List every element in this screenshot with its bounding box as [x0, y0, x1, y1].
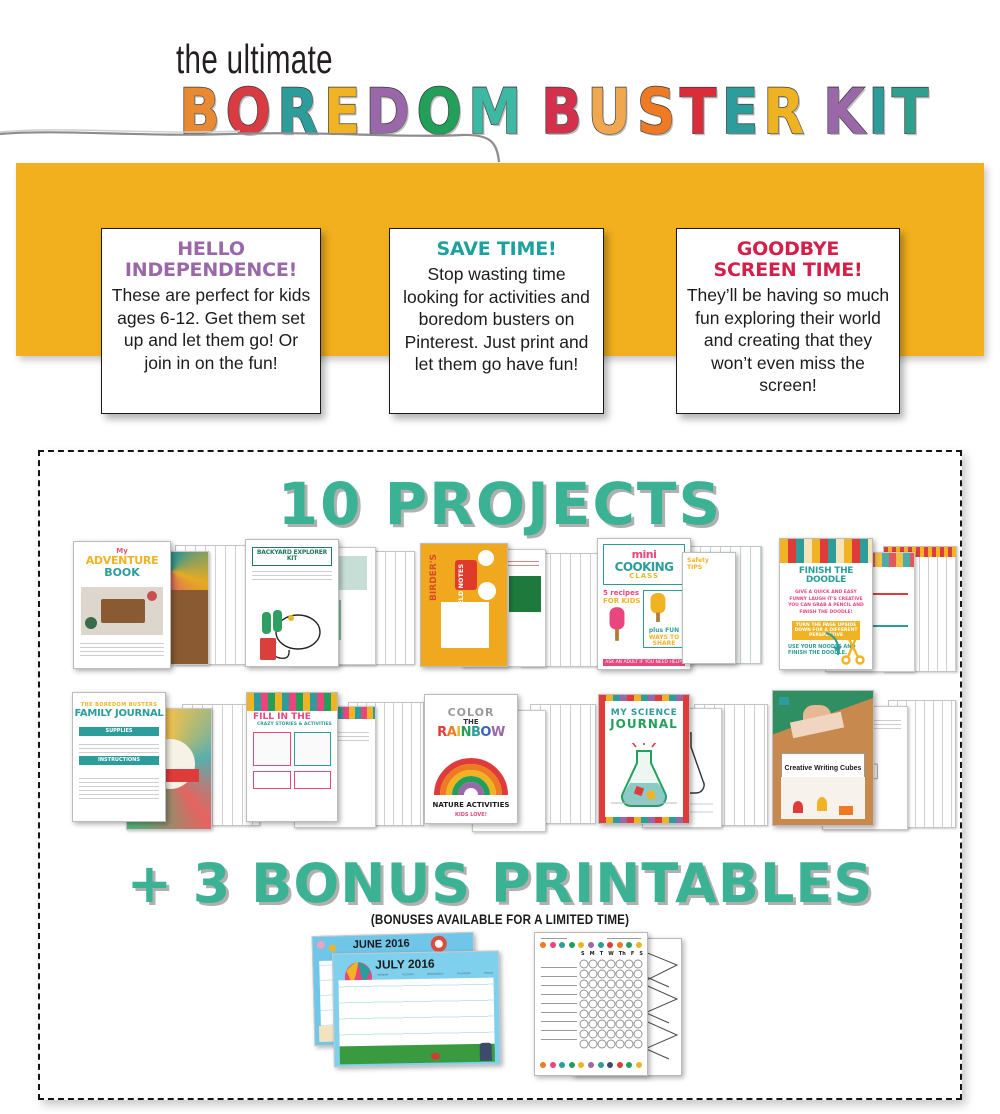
- product-thumb-adventure-book: My ADVENTURE My ADVENTURE BOOK: [60, 535, 250, 675]
- title-letter: E: [324, 82, 360, 142]
- bonus-heading: + 3 BONUS PRINTABLES: [0, 852, 1000, 915]
- title-letter: S: [637, 82, 675, 142]
- projects-heading: 10 PROJECTS: [0, 470, 1000, 538]
- product-thumb-creative-writing-cubes: Creative Writing Cubes: [760, 686, 960, 836]
- bonus-chore-chart-sheet: S M T W Th F S: [534, 932, 648, 1076]
- product-thumb-family-journal: THE BOREDOM BUSTERS FAMILY JOURNAL SUPPL…: [60, 688, 250, 833]
- title-letter: K: [823, 82, 863, 142]
- feature-card-independence: HELLO INDEPENDENCE! These are perfect fo…: [101, 228, 321, 414]
- title-letter: U: [588, 82, 630, 142]
- title-letter: B: [541, 82, 581, 142]
- title-letter: T: [680, 82, 716, 142]
- title-letter: O: [416, 82, 460, 142]
- calendar-title: JULY 2016: [375, 957, 435, 972]
- cover-title: BIRDER'S: [429, 554, 439, 601]
- card-heading: GOODBYE SCREEN TIME!: [685, 239, 891, 281]
- bonus-july-calendar: JULY 2016 MONDAY TUESDAY WEDNESDAY THURS…: [332, 951, 501, 1068]
- title-letter: T: [892, 82, 928, 142]
- card-heading: HELLO INDEPENDENCE!: [110, 239, 312, 281]
- title-letter: D: [366, 82, 409, 142]
- title-letter: R: [763, 82, 803, 142]
- cover-title: Creative Writing Cubes: [785, 765, 862, 772]
- bonus-subtext: (BONUSES AVAILABLE FOR A LIMITED TIME): [70, 912, 930, 927]
- feature-card-screen-time: GOODBYE SCREEN TIME! They’ll be having s…: [676, 228, 900, 414]
- calendar-title: JUNE 2016: [353, 938, 410, 951]
- title-letter: B: [179, 82, 219, 142]
- card-body: Stop wasting time looking for activities…: [398, 263, 595, 376]
- title-letter: E: [721, 82, 757, 142]
- card-body: They’ll be having so much fun exploring …: [685, 284, 891, 397]
- title-letter: I: [868, 82, 887, 142]
- product-thumb-mini-cooking-class: mini COOKING CLASS 5 recipes FOR KIDS pl…: [585, 532, 765, 677]
- page-title: BOREDOMBUSTERKIT: [176, 82, 930, 142]
- product-thumb-birders-field-notes: BIRDER'S FIELD NOTES: [410, 535, 595, 675]
- product-thumb-fill-in-the-blank: FILL IN THE CRAZY STORIES & ACTIVITIES: [240, 688, 425, 833]
- title-letter: O: [226, 82, 270, 142]
- card-body: These are perfect for kids ages 6-12. Ge…: [110, 284, 312, 374]
- card-heading: SAVE TIME!: [398, 239, 595, 260]
- product-thumb-finish-the-doodle: FINISH THE DOODLE GIVE A QUICK AND EASY …: [765, 530, 960, 678]
- product-thumb-my-science-journal: MY SCIENCE JOURNAL: [590, 688, 770, 833]
- feature-card-save-time: SAVE TIME! Stop wasting time looking for…: [389, 228, 604, 414]
- title-letter: R: [277, 82, 317, 142]
- bonus-thumb-chore-chart: S M T W Th F S: [528, 932, 688, 1080]
- product-thumb-color-the-rainbow: COLOR THE RAINBOW COLOR THE RAINBOW NATU…: [410, 688, 600, 833]
- header: the ultimate BOREDOMBUSTERKIT: [0, 0, 1000, 150]
- product-thumb-backyard-explorer-kit: BACKYARD EXPLORER KIT: [240, 535, 420, 675]
- bonus-thumb-calendars: JUNE 2016 JULY 2016 MONDAY TUESDAY WEDNE…: [313, 934, 513, 1074]
- title-letter: M: [469, 82, 521, 142]
